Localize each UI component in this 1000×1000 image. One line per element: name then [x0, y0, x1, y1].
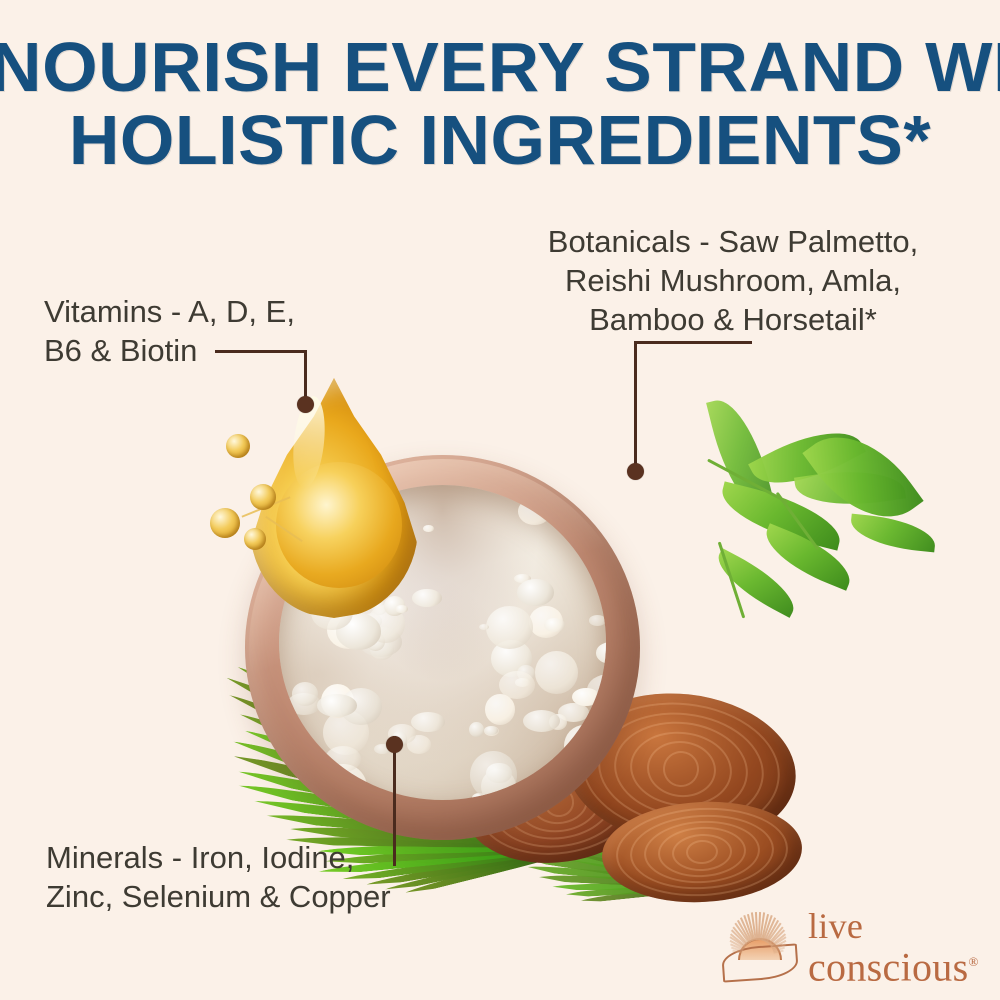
leader-segment-vertical [634, 341, 637, 469]
poster-canvas: NOURISH EVERY STRAND WITH HOLISTIC INGRE… [0, 0, 1000, 1000]
droplet-core [276, 462, 402, 588]
oil-bubble [210, 508, 240, 538]
page-title: NOURISH EVERY STRAND WITH HOLISTIC INGRE… [0, 34, 1000, 174]
sunrise-leaf-icon [716, 912, 802, 982]
leader-endpoint-dot [627, 463, 644, 480]
oil-bubble [250, 484, 276, 510]
leader-endpoint-dot [386, 736, 403, 753]
leader-segment-horizontal [634, 341, 752, 344]
brand-name-line-1: live [808, 908, 979, 944]
brand-wordmark: live conscious® [808, 908, 979, 987]
oil-bubble [226, 434, 250, 458]
callout-botanicals: Botanicals - Saw Palmetto, Reishi Mushro… [498, 222, 968, 339]
callout-minerals: Minerals - Iron, Iodine, Zinc, Selenium … [46, 838, 466, 916]
bamboo-leaf [849, 514, 938, 553]
oil-droplet [228, 378, 443, 633]
headline-line-1: NOURISH EVERY STRAND WITH [0, 34, 1000, 101]
headline-line-2: HOLISTIC INGREDIENTS* [0, 107, 1000, 174]
brand-logo[interactable]: live conscious® [716, 908, 978, 986]
registered-mark: ® [968, 954, 978, 969]
leader-endpoint-dot [297, 396, 314, 413]
oil-bubble [244, 528, 266, 550]
callout-vitamins: Vitamins - A, D, E, B6 & Biotin [44, 292, 374, 370]
brand-name-line-2: conscious® [808, 942, 979, 987]
leader-line-botanicals [634, 341, 764, 486]
